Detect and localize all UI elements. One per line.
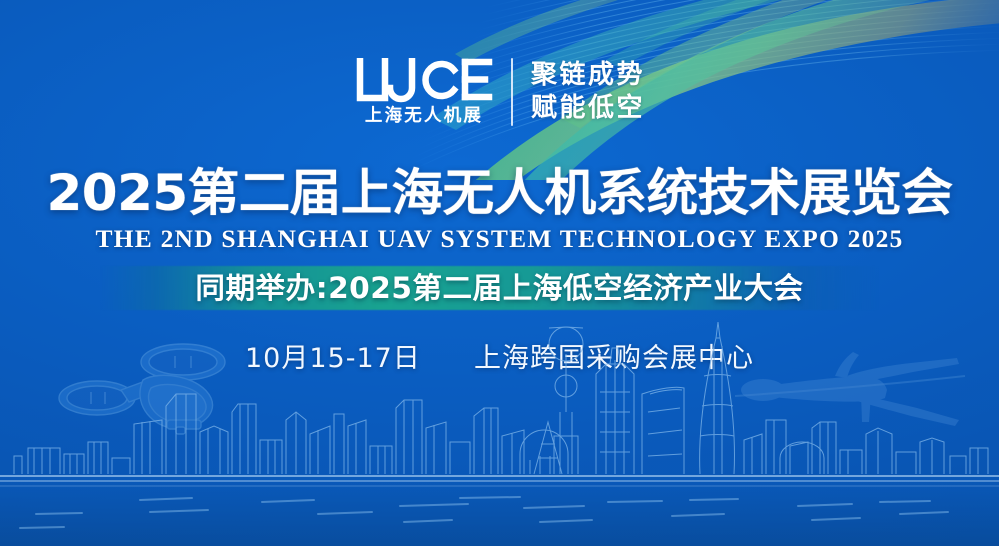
ujce-wordmark-icon (355, 58, 493, 104)
event-venue: 上海跨国采购会展中心 (474, 343, 754, 374)
logo-slogan: 聚链成势 赋能低空 (531, 61, 645, 122)
event-date: 10月15-17日 (245, 343, 421, 374)
event-poster: 上海无人机展 聚链成势 赋能低空 2025第二届上海无人机系统技术展览会 THE… (0, 0, 999, 546)
logo-left: 上海无人机展 (355, 58, 493, 126)
logo-slogan-line2: 赋能低空 (531, 94, 645, 123)
subtitle-band-text: 同期举办:2025第二届上海低空经济产业大会 (0, 270, 999, 306)
page-title-chinese: 2025第二届上海无人机系统技术展览会 (0, 168, 999, 218)
logo-lockup: 上海无人机展 聚链成势 赋能低空 (355, 58, 645, 126)
event-meta: 10月15-17日 上海跨国采购会展中心 (0, 345, 999, 372)
logo-chinese-name: 上海无人机展 (365, 108, 483, 126)
logo-slogan-line1: 聚链成势 (531, 61, 645, 90)
page-title-english: THE 2ND SHANGHAI UAV SYSTEM TECHNOLOGY E… (0, 227, 999, 252)
logo-divider (511, 58, 513, 126)
